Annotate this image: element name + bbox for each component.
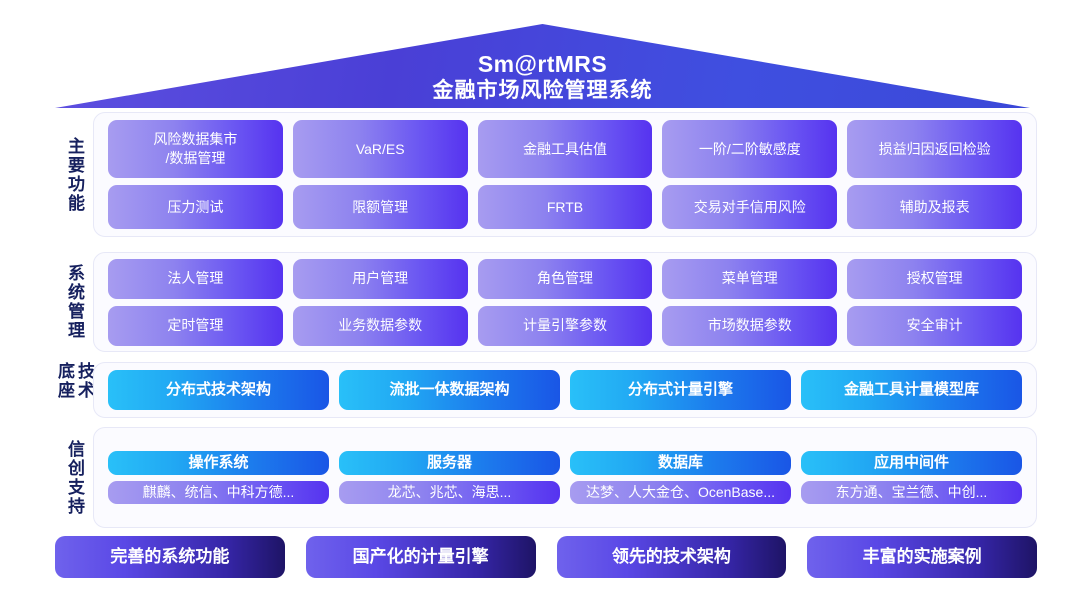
function-card[interactable]: 定时管理 xyxy=(108,306,283,346)
row-label-main-functions: 主要功能 xyxy=(55,112,93,237)
tech-card[interactable]: 金融工具计量模型库 xyxy=(801,370,1022,410)
xinchuang-category-title[interactable]: 服务器 xyxy=(339,451,560,475)
function-card[interactable]: 用户管理 xyxy=(293,259,468,299)
tech-card[interactable]: 分布式计量引擎 xyxy=(570,370,791,410)
function-card[interactable]: 法人管理 xyxy=(108,259,283,299)
value-card[interactable]: 领先的技术架构 xyxy=(557,536,787,578)
row-system-management: 系统管理 法人管理 用户管理 角色管理 菜单管理 授权管理 定时管理 业务数据参… xyxy=(55,252,1037,352)
system-management-grid-row-2: 定时管理 业务数据参数 计量引擎参数 市场数据参数 安全审计 xyxy=(108,306,1022,346)
function-card[interactable]: 授权管理 xyxy=(847,259,1022,299)
function-card[interactable]: 风险数据集市/数据管理 xyxy=(108,120,283,178)
value-card[interactable]: 完善的系统功能 xyxy=(55,536,285,578)
main-functions-grid-row-1: 风险数据集市/数据管理 VaR/ES 金融工具估值 一阶/二阶敏感度 损益归因返… xyxy=(108,120,1022,178)
function-card[interactable]: 角色管理 xyxy=(478,259,653,299)
function-card[interactable]: 业务数据参数 xyxy=(293,306,468,346)
function-card[interactable]: 限额管理 xyxy=(293,185,468,229)
xinchuang-group: 数据库 达梦、人大金仓、OcenBase... xyxy=(570,451,791,504)
function-card[interactable]: 交易对手信用风险 xyxy=(662,185,837,229)
xinchuang-vendor-list[interactable]: 东方通、宝兰德、中创... xyxy=(801,481,1022,504)
function-card[interactable]: 安全审计 xyxy=(847,306,1022,346)
panel-tech-foundation: 分布式技术架构 流批一体数据架构 分布式计量引擎 金融工具计量模型库 xyxy=(93,362,1037,418)
function-card[interactable]: 损益归因返回检验 xyxy=(847,120,1022,178)
row-label-system-management: 系统管理 xyxy=(55,252,93,352)
row-label-tech-foundation: 技术底座 xyxy=(55,362,93,418)
function-card[interactable]: 金融工具估值 xyxy=(478,120,653,178)
value-card[interactable]: 丰富的实施案例 xyxy=(807,536,1037,578)
xinchuang-group: 应用中间件 东方通、宝兰德、中创... xyxy=(801,451,1022,504)
product-title: Sm@rtMRS xyxy=(478,51,607,78)
function-card[interactable]: 市场数据参数 xyxy=(662,306,837,346)
xinchuang-vendor-list[interactable]: 麒麟、统信、中科方德... xyxy=(108,481,329,504)
row-main-functions: 主要功能 风险数据集市/数据管理 VaR/ES 金融工具估值 一阶/二阶敏感度 … xyxy=(55,112,1037,237)
row-xinchuang-support: 信创支持 操作系统 麒麟、统信、中科方德... 服务器 龙芯、兆芯、海思... … xyxy=(55,427,1037,528)
row-label-xinchuang-support: 信创支持 xyxy=(55,427,93,528)
panel-main-functions: 风险数据集市/数据管理 VaR/ES 金融工具估值 一阶/二阶敏感度 损益归因返… xyxy=(93,112,1037,237)
tech-card[interactable]: 流批一体数据架构 xyxy=(339,370,560,410)
xinchuang-category-title[interactable]: 操作系统 xyxy=(108,451,329,475)
function-card[interactable]: 辅助及报表 xyxy=(847,185,1022,229)
architecture-diagram: Sm@rtMRS 金融市场风险管理系统 主要功能 风险数据集市/数据管理 VaR… xyxy=(0,0,1080,604)
value-card[interactable]: 国产化的计量引擎 xyxy=(306,536,536,578)
function-card[interactable]: 计量引擎参数 xyxy=(478,306,653,346)
system-management-grid-row-1: 法人管理 用户管理 角色管理 菜单管理 授权管理 xyxy=(108,259,1022,299)
function-card[interactable]: 菜单管理 xyxy=(662,259,837,299)
main-functions-grid-row-2: 压力测试 限额管理 FRTB 交易对手信用风险 辅助及报表 xyxy=(108,185,1022,229)
panel-system-management: 法人管理 用户管理 角色管理 菜单管理 授权管理 定时管理 业务数据参数 计量引… xyxy=(93,252,1037,352)
function-card[interactable]: 一阶/二阶敏感度 xyxy=(662,120,837,178)
panel-xinchuang-support: 操作系统 麒麟、统信、中科方德... 服务器 龙芯、兆芯、海思... 数据库 达… xyxy=(93,427,1037,528)
xinchuang-category-title[interactable]: 数据库 xyxy=(570,451,791,475)
function-card[interactable]: VaR/ES xyxy=(293,120,468,178)
xinchuang-group: 服务器 龙芯、兆芯、海思... xyxy=(339,451,560,504)
xinchuang-category-title[interactable]: 应用中间件 xyxy=(801,451,1022,475)
xinchuang-groups: 操作系统 麒麟、统信、中科方德... 服务器 龙芯、兆芯、海思... 数据库 达… xyxy=(108,451,1022,504)
xinchuang-vendor-list[interactable]: 龙芯、兆芯、海思... xyxy=(339,481,560,504)
system-roof-header: Sm@rtMRS 金融市场风险管理系统 xyxy=(55,24,1030,108)
tech-card[interactable]: 分布式技术架构 xyxy=(108,370,329,410)
value-proposition-banner: 完善的系统功能 国产化的计量引擎 领先的技术架构 丰富的实施案例 xyxy=(55,536,1037,582)
product-subtitle: 金融市场风险管理系统 xyxy=(433,78,653,104)
row-tech-foundation: 技术底座 分布式技术架构 流批一体数据架构 分布式计量引擎 金融工具计量模型库 xyxy=(55,362,1037,418)
function-card[interactable]: FRTB xyxy=(478,185,653,229)
tech-foundation-grid: 分布式技术架构 流批一体数据架构 分布式计量引擎 金融工具计量模型库 xyxy=(108,370,1022,410)
xinchuang-group: 操作系统 麒麟、统信、中科方德... xyxy=(108,451,329,504)
function-card[interactable]: 压力测试 xyxy=(108,185,283,229)
xinchuang-vendor-list[interactable]: 达梦、人大金仓、OcenBase... xyxy=(570,481,791,504)
